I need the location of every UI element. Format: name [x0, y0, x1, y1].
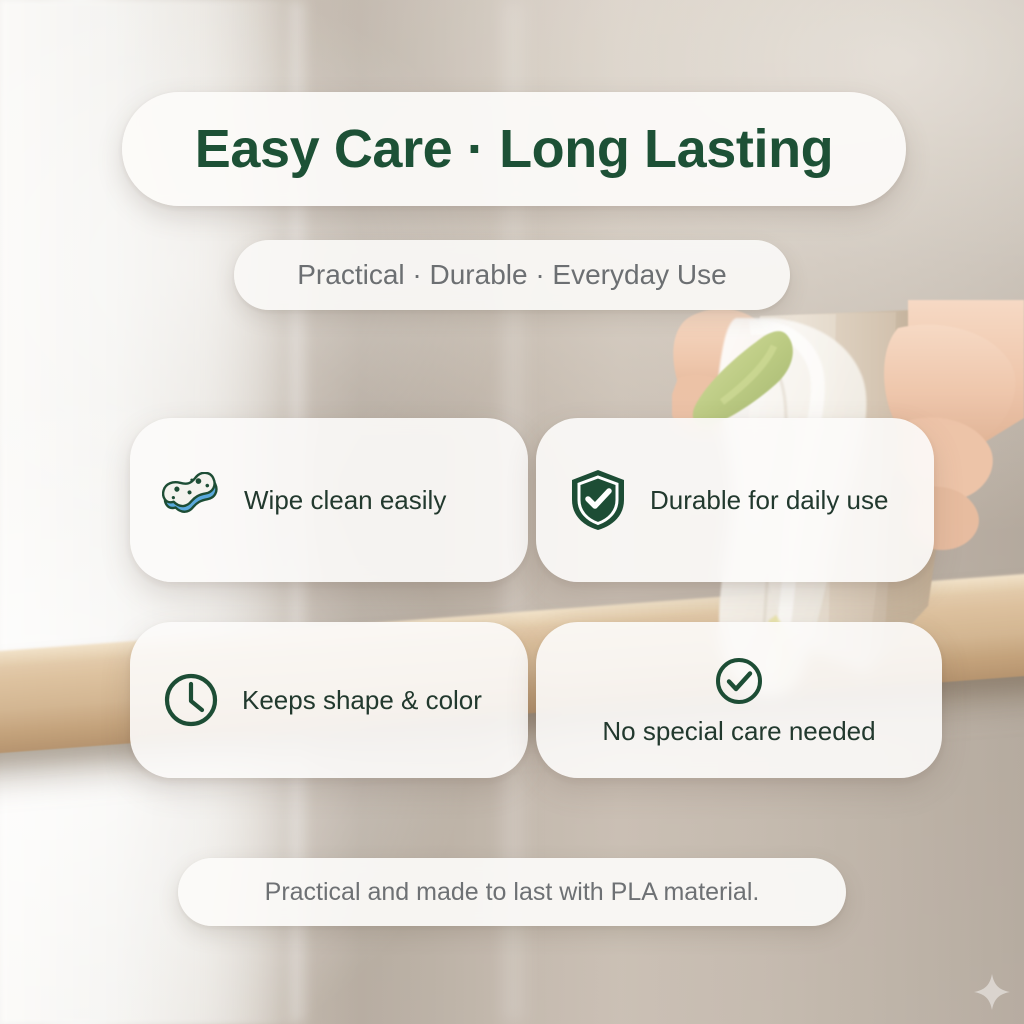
page-subtitle: Practical · Durable · Everyday Use [297, 259, 726, 291]
sparkle-icon [972, 972, 1012, 1012]
feature-card-no-special-care[interactable]: No special care needed [536, 622, 942, 778]
poster-canvas: Easy Care · Long Lasting Practical · Dur… [0, 0, 1024, 1024]
footer-text: Practical and made to last with PLA mate… [265, 878, 760, 907]
feature-label: Durable for daily use [650, 487, 888, 513]
content-overlay: Easy Care · Long Lasting Practical · Dur… [0, 0, 1024, 1024]
clock-icon [162, 671, 220, 729]
feature-label: Keeps shape & color [242, 687, 482, 713]
sponge-icon [162, 472, 222, 528]
feature-label: Wipe clean easily [244, 487, 446, 513]
feature-label: No special care needed [602, 718, 875, 744]
page-title: Easy Care · Long Lasting [195, 118, 834, 180]
subtitle-pill: Practical · Durable · Everyday Use [234, 240, 790, 310]
shield-check-icon [568, 468, 628, 532]
feature-card-durable[interactable]: Durable for daily use [536, 418, 934, 582]
footer-pill: Practical and made to last with PLA mate… [178, 858, 846, 926]
feature-card-keeps-shape[interactable]: Keeps shape & color [130, 622, 528, 778]
check-circle-icon [714, 656, 764, 706]
title-pill: Easy Care · Long Lasting [122, 92, 906, 206]
feature-card-wipe-clean[interactable]: Wipe clean easily [130, 418, 528, 582]
